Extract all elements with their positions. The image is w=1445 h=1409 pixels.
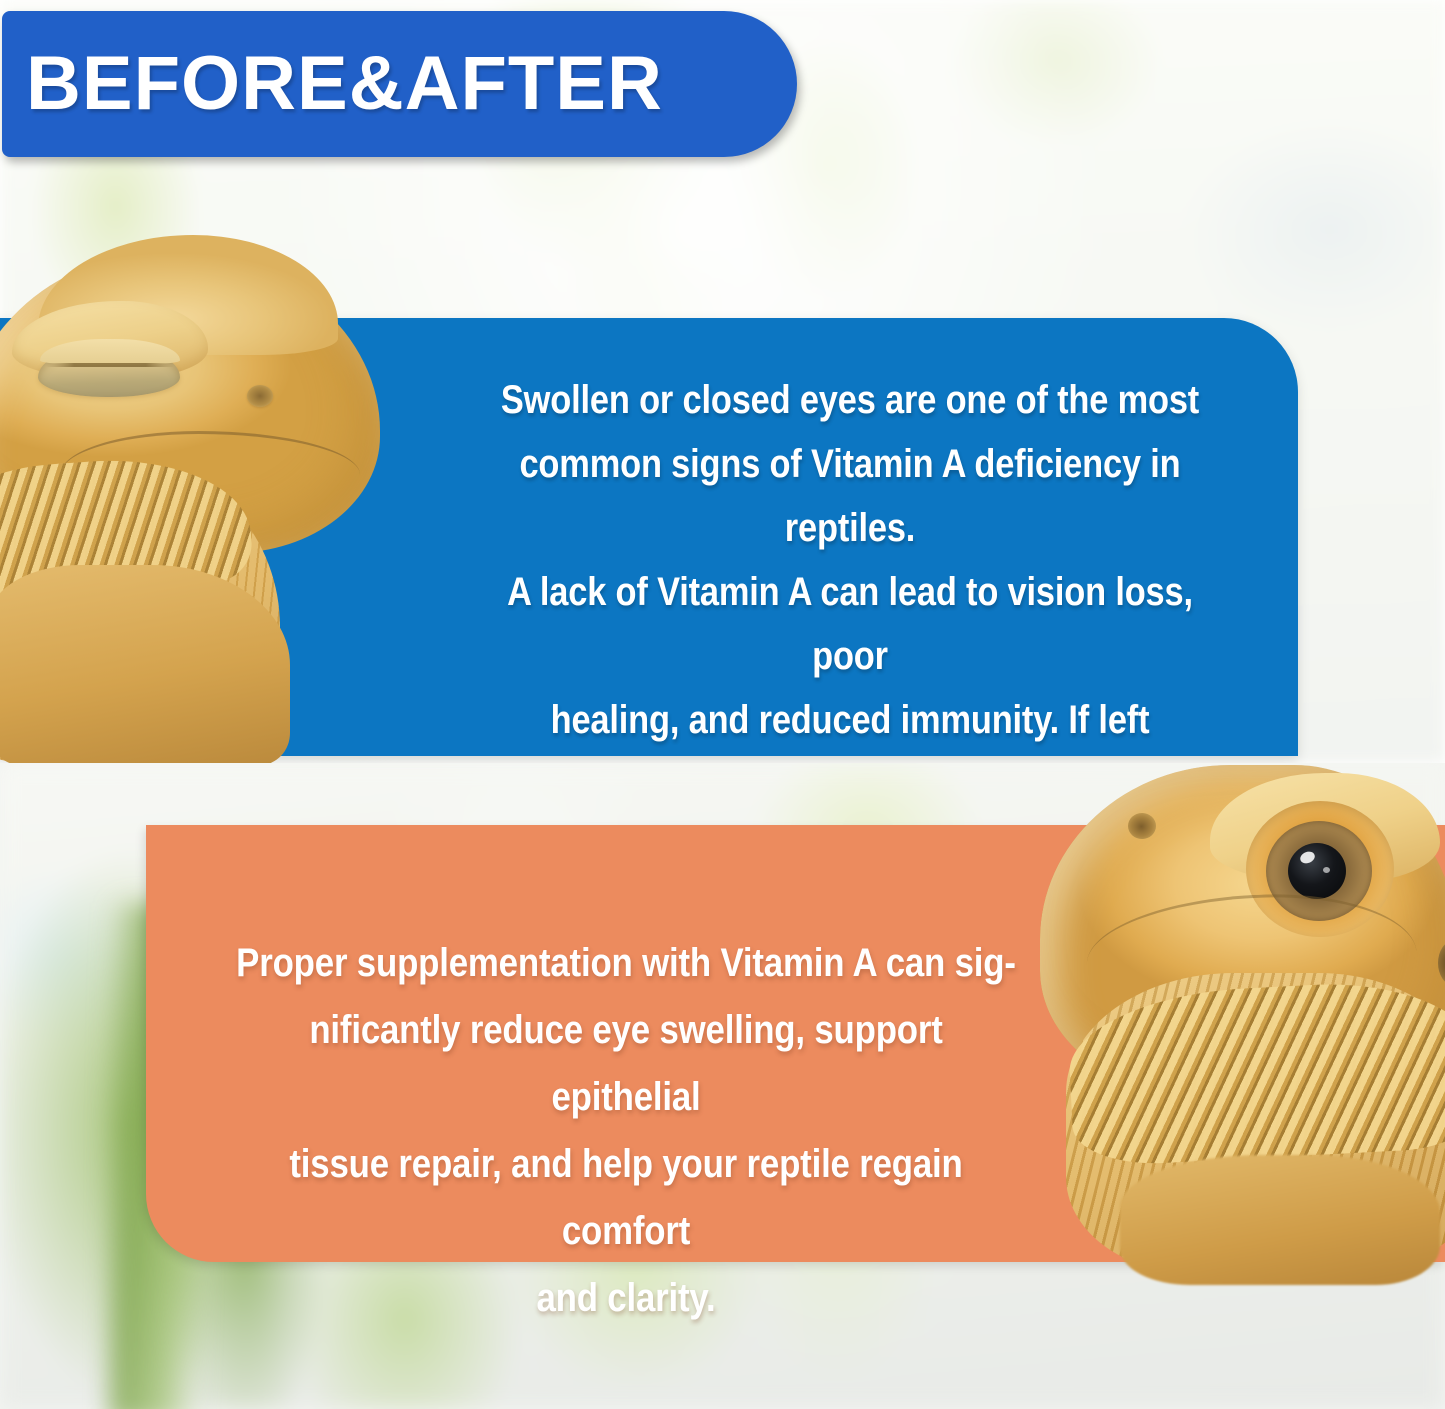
lizard-pupil bbox=[1288, 843, 1346, 899]
lizard-chin bbox=[1120, 1155, 1440, 1285]
lizard-neck bbox=[0, 565, 290, 765]
lizard-nostril bbox=[247, 385, 273, 407]
before-lizard-image bbox=[0, 235, 440, 763]
product-infographic: Swollen or closed eyes are one of the mo… bbox=[0, 0, 1445, 1409]
lizard-nostril bbox=[1128, 813, 1156, 839]
lizard-eye-highlight-secondary bbox=[1323, 867, 1330, 873]
after-panel-text: Proper supplementation with Vitamin A ca… bbox=[235, 930, 1018, 1332]
before-after-badge-label: BEFORE&AFTER bbox=[26, 42, 663, 126]
lizard-eye-slit bbox=[46, 363, 174, 367]
before-after-badge: BEFORE&AFTER bbox=[2, 11, 797, 157]
after-lizard-image bbox=[1000, 755, 1445, 1275]
